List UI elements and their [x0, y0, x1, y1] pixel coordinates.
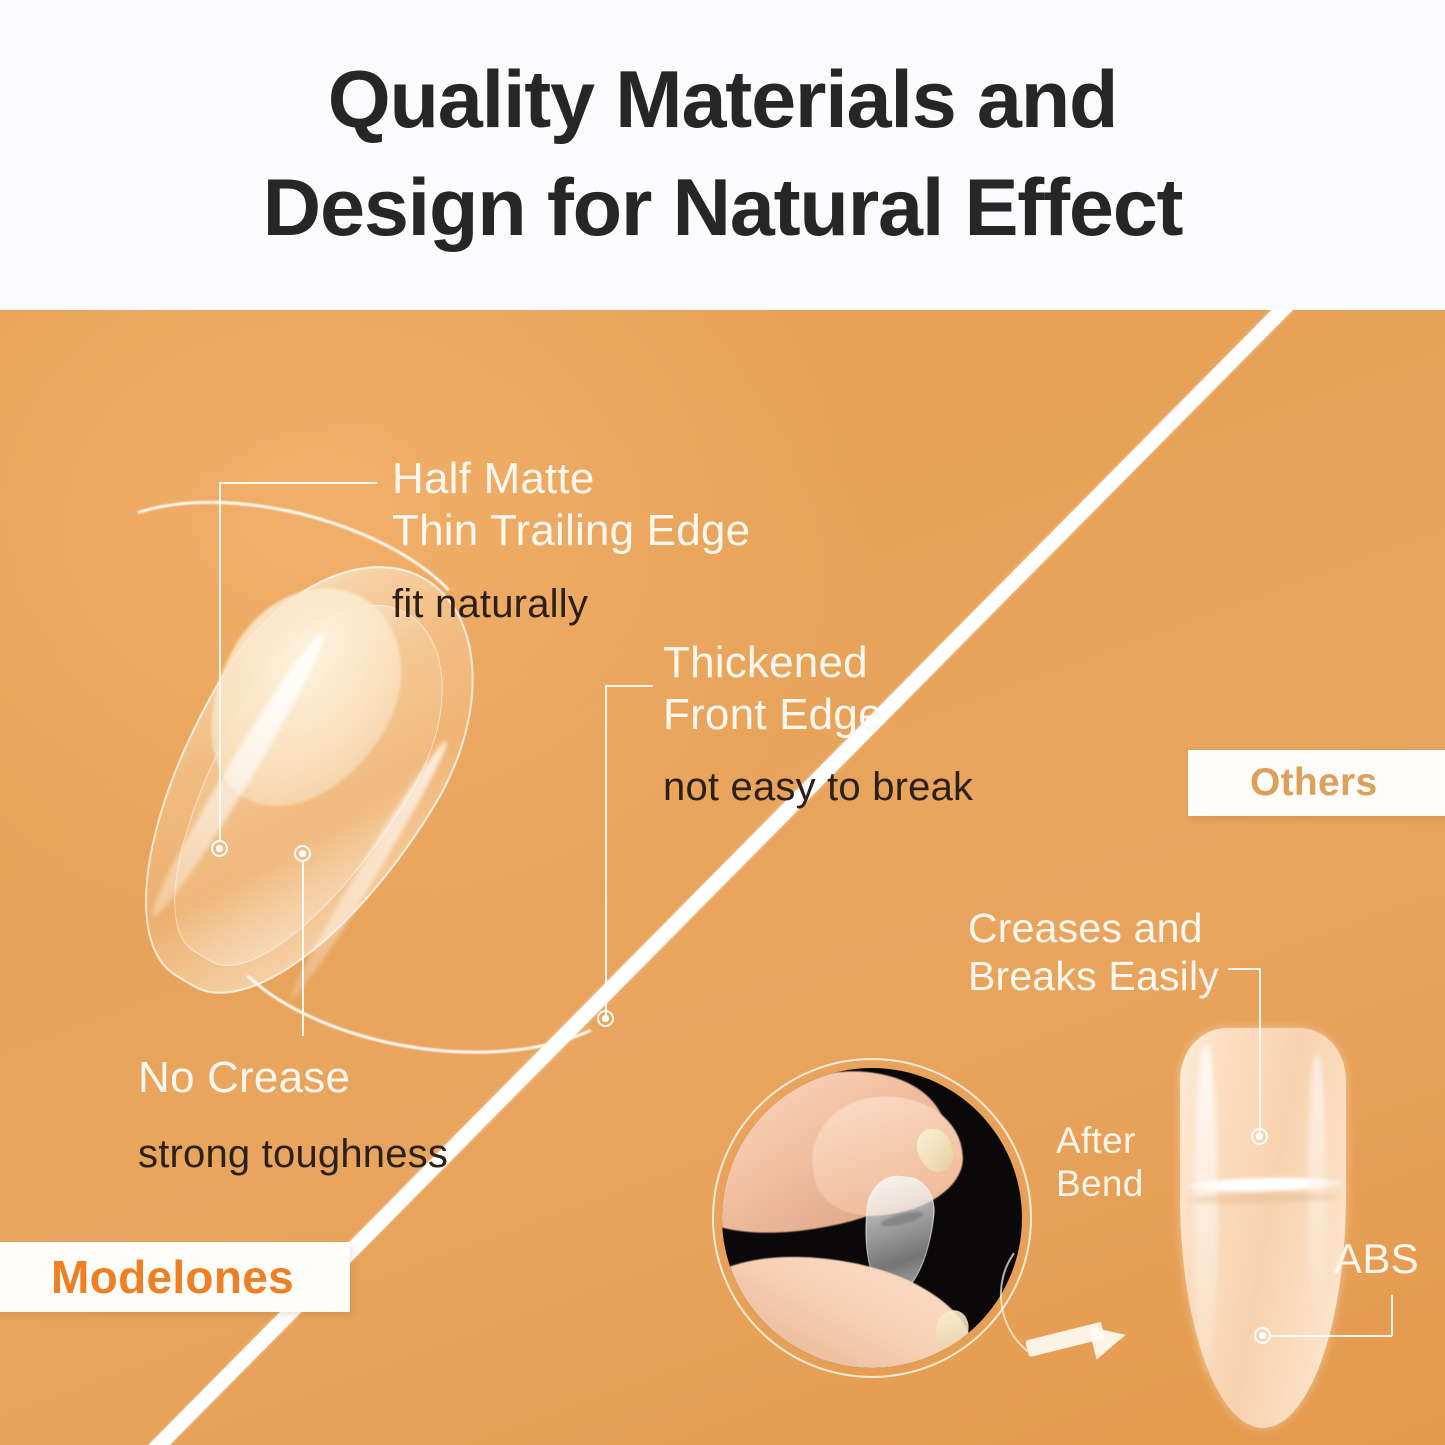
callout-no-crease-headline: No Crease	[138, 1052, 350, 1104]
modelones-nail-illustration	[60, 490, 700, 1070]
page-title-line-2: Design for Natural Effect	[263, 155, 1183, 263]
connector-dot-front-edge	[597, 1010, 614, 1027]
page-title-line-1: Quality Materials and	[328, 47, 1118, 155]
connector-line-front-edge-vertical	[605, 685, 607, 1018]
connector-dot-creases	[1251, 1128, 1268, 1145]
others-abs-nail-illustration	[1180, 1028, 1346, 1428]
connector-line-half-matte-vertical	[219, 482, 221, 842]
connector-line-front-edge-horizontal	[605, 685, 653, 687]
abs-nail-highlight-left	[1194, 1044, 1218, 1374]
connector-line-creases-horizontal	[1228, 968, 1260, 970]
badge-modelones-label: Modelones	[51, 1250, 294, 1304]
abs-nail-highlight-right	[1308, 1054, 1326, 1324]
callout-front-edge-subline: not easy to break	[663, 765, 973, 810]
connector-line-half-matte-horizontal	[219, 482, 377, 484]
connector-line-abs-vertical	[1391, 1295, 1393, 1336]
bend-demo-photo-ring	[712, 1058, 1032, 1378]
callout-creases-headline: Creases and Breaks Easily	[968, 904, 1219, 1001]
infographic-page: Quality Materials and Design for Natural…	[0, 0, 1445, 1445]
comparison-stage: Half Matte Thin Trailing Edge fit natura…	[0, 310, 1445, 1445]
callout-abs-label: ABS	[1334, 1235, 1419, 1284]
badge-others-label: Others	[1250, 761, 1378, 805]
connector-line-no-crease-vertical	[302, 862, 304, 1036]
callout-front-edge-headline: Thickened Front Edge	[663, 637, 883, 741]
callout-no-crease-subline: strong toughness	[138, 1132, 448, 1177]
connector-line-creases-vertical	[1259, 968, 1261, 1136]
callout-after-bend-label: After Bend	[1056, 1120, 1144, 1206]
connector-line-abs-horizontal	[1271, 1335, 1392, 1337]
connector-dot-no-crease	[294, 845, 311, 862]
callout-half-matte-headline: Half Matte Thin Trailing Edge	[392, 453, 750, 557]
badge-others: Others	[1188, 750, 1445, 816]
connector-dot-half-matte	[211, 840, 228, 857]
badge-modelones: Modelones	[0, 1242, 350, 1312]
connector-dot-abs	[1254, 1327, 1271, 1344]
header-banner: Quality Materials and Design for Natural…	[0, 0, 1445, 310]
callout-half-matte-subline: fit naturally	[392, 582, 588, 627]
